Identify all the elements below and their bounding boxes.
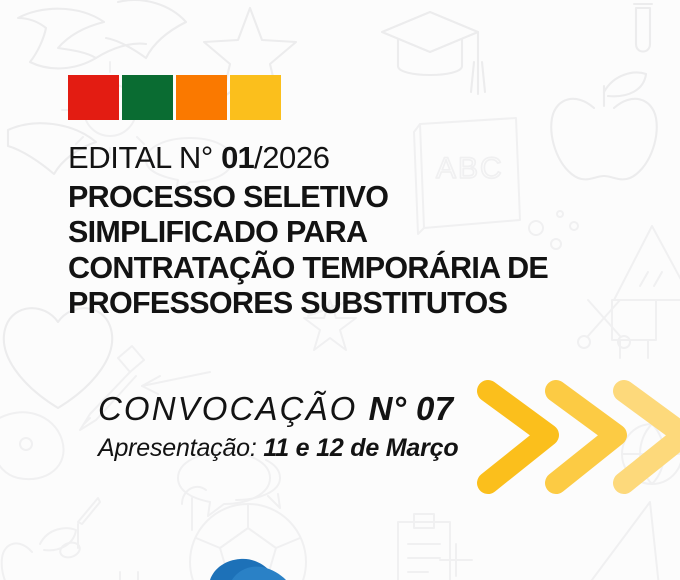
chevron-arrow-group	[482, 380, 680, 495]
lightbulb-icon	[182, 487, 206, 530]
convocation-title-line: CONVOCAÇÃO N° 07	[98, 390, 458, 428]
apple-icon	[2, 528, 76, 580]
paint-palette-icon	[0, 412, 64, 479]
presentation-dates: 11 e 12 de Março	[263, 434, 458, 462]
soccer-ball-icon	[190, 504, 306, 580]
poster-canvas: ABC	[0, 0, 680, 580]
edital-label: EDITAL N°	[68, 140, 221, 175]
edital-year: /2026	[254, 140, 330, 175]
presentation-label: Apresentação:	[98, 434, 263, 462]
calculator-icon	[440, 544, 472, 576]
chevron-right-icon-2	[556, 391, 616, 483]
graduation-cap-icon	[382, 12, 485, 94]
swatch-red	[68, 75, 119, 120]
convocation-label: CONVOCAÇÃO	[98, 390, 369, 427]
presentation-line: Apresentação: 11 e 12 de Março	[98, 434, 458, 463]
convocation-block: CONVOCAÇÃO N° 07 Apresentação: 11 e 12 d…	[98, 390, 458, 463]
chevron-right-icon-3	[624, 391, 680, 483]
bird-icon	[106, 0, 186, 58]
heart-icon	[4, 308, 112, 408]
edital-number: 01	[221, 140, 254, 175]
ruler-triangle-icon	[580, 502, 660, 580]
test-tube-icon	[120, 572, 138, 580]
music-note-icon	[58, 498, 100, 560]
headline-line-4: PROFESSORES SUBSTITUTOS	[68, 286, 628, 321]
bird-icon	[18, 9, 146, 69]
chevron-right-icon-1	[488, 391, 548, 483]
headline-line-2: SIMPLIFICADO PARA	[68, 215, 628, 250]
headline-block: EDITAL N° 01/2026 PROCESSO SELETIVO SIMP…	[68, 140, 628, 322]
test-tube-icon	[634, 4, 652, 52]
edital-title-line: EDITAL N° 01/2026	[68, 140, 628, 175]
swatch-green	[122, 75, 173, 120]
clipboard-icon	[398, 514, 450, 580]
color-swatch-strip	[68, 75, 281, 120]
convocation-number: N° 07	[369, 390, 454, 427]
headline-line-3: CONTRATAÇÃO TEMPORÁRIA DE	[68, 251, 628, 286]
swatch-orange	[176, 75, 227, 120]
headline-line-1: PROCESSO SELETIVO	[68, 180, 628, 215]
swatch-yellow	[230, 75, 281, 120]
